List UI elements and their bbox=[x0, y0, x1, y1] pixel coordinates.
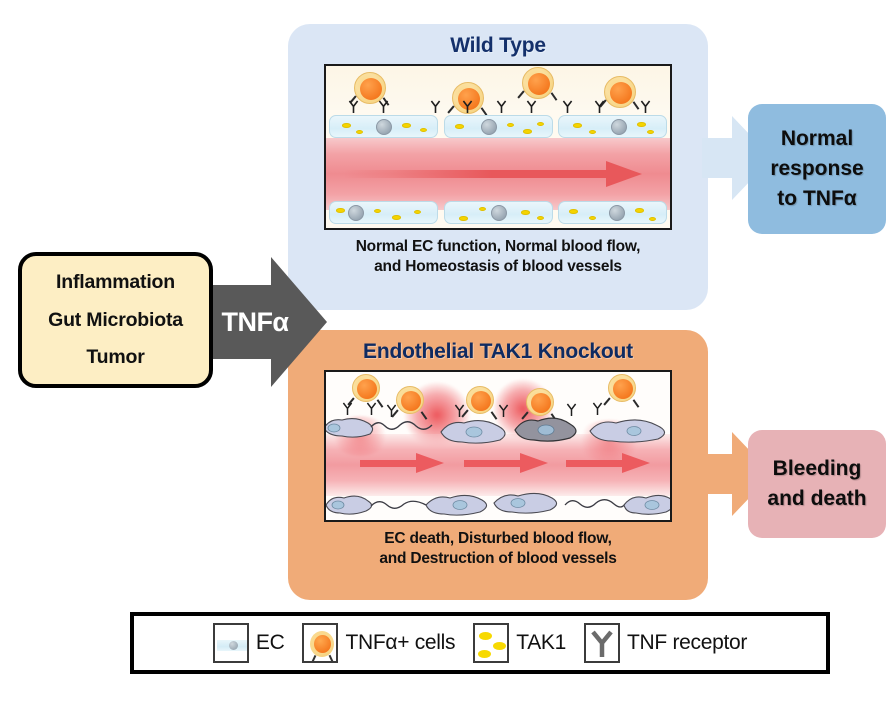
tak1-icon bbox=[637, 122, 646, 127]
tnf-receptor-icon bbox=[526, 100, 537, 114]
tak1-icon bbox=[479, 207, 486, 211]
outcome-line: and death bbox=[767, 484, 866, 514]
tak1-icon bbox=[392, 215, 401, 220]
ec-nucleus bbox=[491, 205, 507, 221]
tnf-receptor-icon bbox=[562, 100, 573, 114]
tak1-icon bbox=[414, 210, 421, 214]
panel-caption-wild-type: Normal EC function, Normal blood flow, a… bbox=[356, 237, 641, 277]
tnf-receptor-icon bbox=[594, 100, 605, 114]
ec-detached-fragment bbox=[370, 416, 434, 436]
ec-icon bbox=[329, 115, 438, 138]
outcome-box-bleeding-and-death: Bleeding and death bbox=[748, 430, 886, 538]
ec-nucleus bbox=[609, 205, 625, 221]
flow-arrow-shaft bbox=[344, 170, 612, 178]
ec-icon bbox=[558, 115, 667, 138]
flow-arrow-shaft bbox=[566, 460, 628, 467]
tnf-receptor-icon bbox=[348, 100, 359, 114]
tak1-icon bbox=[402, 123, 411, 128]
ec-detached-fragment bbox=[564, 494, 626, 514]
flow-arrow-head bbox=[416, 453, 444, 473]
tnfa-cell-core bbox=[360, 78, 382, 100]
blood-flow-arrow-disturbed bbox=[566, 456, 650, 470]
legend-label: TNF receptor bbox=[627, 631, 747, 655]
tak1-icon bbox=[573, 123, 582, 128]
endothelial-row-top bbox=[326, 115, 670, 138]
panel-endothelial-tak1-knockout: Endothelial TAK1 Knockout bbox=[288, 330, 708, 600]
tnf-receptor-icon bbox=[378, 100, 389, 114]
tak1-granule bbox=[493, 642, 506, 650]
tnf-receptor-icon bbox=[584, 623, 620, 663]
tnfa-cell-core bbox=[531, 393, 551, 413]
vessel-diagram-tak1-knockout bbox=[324, 370, 672, 522]
legend-label: TNFα+ cells bbox=[345, 631, 455, 655]
panel-wild-type: Wild Type bbox=[288, 24, 708, 310]
trigger-line-gut-microbiota: Gut Microbiota bbox=[48, 309, 183, 332]
tak1-icon bbox=[507, 123, 514, 127]
tak1-icon bbox=[521, 210, 530, 215]
ec-damaged bbox=[588, 414, 672, 444]
legend-label: TAK1 bbox=[516, 631, 566, 655]
panel-caption-tak1-knockout: EC death, Disturbed blood flow, and Dest… bbox=[379, 529, 616, 569]
ec-damaged bbox=[438, 414, 512, 446]
tnfa-cell-stub bbox=[312, 655, 316, 662]
tnf-receptor-icon bbox=[640, 100, 651, 114]
tak1-icon bbox=[537, 122, 544, 126]
tak1-icon bbox=[356, 130, 363, 134]
tnfa-cell-core bbox=[528, 73, 550, 95]
tnfa-cell-stub bbox=[329, 655, 333, 662]
legend-item-tnfa-cells: TNFα+ cells bbox=[302, 623, 455, 663]
outcome-box-normal-response: Normal response to TNFα bbox=[748, 104, 886, 234]
tak1-icon bbox=[342, 123, 351, 128]
legend: EC TNFα+ cells TAK1 TNF receptor bbox=[130, 612, 830, 674]
caption-line: EC death, Disturbed blood flow, bbox=[379, 529, 616, 549]
tnfa-cell-core bbox=[401, 391, 421, 411]
outcome-line: Normal bbox=[781, 124, 853, 154]
outcome-line: to TNFα bbox=[777, 184, 856, 214]
panel-title-wild-type: Wild Type bbox=[450, 34, 546, 58]
tnfa-cell-icon bbox=[466, 386, 494, 414]
blood-lumen-normal bbox=[326, 138, 670, 210]
flow-arrow-shaft bbox=[464, 460, 526, 467]
inflammation-trigger-box: Inflammation Gut Microbiota Tumor bbox=[18, 252, 213, 388]
tak1-icon bbox=[523, 129, 532, 134]
flow-arrow-head bbox=[622, 453, 650, 473]
tnfa-stimulus-arrow: TNFα bbox=[205, 257, 327, 387]
blood-flow-arrow-disturbed bbox=[464, 456, 548, 470]
ec-nucleus bbox=[376, 119, 392, 135]
tak1-icon bbox=[635, 208, 644, 213]
tnf-receptor-icon bbox=[366, 402, 377, 416]
tnf-receptor-icon bbox=[430, 100, 441, 114]
tak1-icon bbox=[336, 208, 345, 213]
endothelial-row-bottom bbox=[326, 201, 670, 224]
outcome-line: response bbox=[770, 154, 863, 184]
flow-arrow-head bbox=[606, 161, 642, 187]
tnfa-cell-icon bbox=[522, 67, 554, 99]
tak1-icon bbox=[420, 128, 427, 132]
tnfa-cell-icon bbox=[608, 374, 636, 402]
tnfa-cell-core bbox=[610, 82, 632, 104]
ec-damaged bbox=[424, 490, 492, 518]
ec-damaged bbox=[622, 490, 672, 518]
panel-title-tak1-knockout: Endothelial TAK1 Knockout bbox=[363, 340, 633, 364]
ec-icon bbox=[444, 115, 553, 138]
ec-nucleus bbox=[229, 641, 238, 650]
tnf-receptor-icon bbox=[386, 404, 397, 418]
tak1-icon bbox=[473, 623, 509, 663]
legend-item-ec: EC bbox=[213, 623, 285, 663]
trigger-line-inflammation: Inflammation bbox=[56, 271, 175, 294]
tnfa-cell-core bbox=[471, 391, 491, 411]
vessel-diagram-wild-type bbox=[324, 64, 672, 230]
trigger-line-tumor: Tumor bbox=[86, 346, 144, 369]
legend-label: EC bbox=[256, 631, 285, 655]
tnfa-cell-core bbox=[357, 379, 377, 399]
caption-line: Normal EC function, Normal blood flow, bbox=[356, 237, 641, 257]
caption-line: and Homeostasis of blood vessels bbox=[356, 257, 641, 277]
ec-nucleus bbox=[348, 205, 364, 221]
legend-item-tak1: TAK1 bbox=[473, 623, 566, 663]
tak1-icon bbox=[649, 217, 656, 221]
blood-flow-arrow-disturbed bbox=[360, 456, 444, 470]
ec-icon bbox=[558, 201, 667, 224]
tnfa-arrow-label: TNFα bbox=[205, 257, 305, 387]
ec-icon bbox=[444, 201, 553, 224]
tnf-receptor-icon bbox=[592, 402, 603, 416]
ec-nucleus bbox=[611, 119, 627, 135]
tak1-icon bbox=[537, 216, 544, 220]
tnf-receptor-icon bbox=[342, 402, 353, 416]
tnfa-cell-icon bbox=[302, 623, 338, 663]
tak1-icon bbox=[589, 216, 596, 220]
tnf-receptor-icon bbox=[454, 404, 465, 418]
tak1-granule bbox=[479, 632, 492, 640]
tak1-icon bbox=[374, 209, 381, 213]
tnfa-cell-core bbox=[613, 379, 633, 399]
blood-flow-arrow-normal bbox=[344, 166, 644, 182]
tak1-icon bbox=[589, 130, 596, 134]
tak1-icon bbox=[647, 130, 654, 134]
ec-icon bbox=[213, 623, 249, 663]
tnf-receptor-icon bbox=[496, 100, 507, 114]
tak1-granule bbox=[478, 650, 491, 658]
ec-damaged bbox=[492, 488, 562, 516]
tnfa-cell-icon bbox=[352, 374, 380, 402]
tnf-receptor-icon bbox=[566, 403, 577, 417]
tnf-receptor-icon bbox=[498, 404, 509, 418]
tnf-receptor-icon bbox=[462, 100, 473, 114]
flow-arrow-head bbox=[520, 453, 548, 473]
tnfa-cell-icon bbox=[396, 386, 424, 414]
ec-nucleus bbox=[481, 119, 497, 135]
ec-damaged bbox=[324, 490, 376, 518]
tak1-icon bbox=[455, 124, 464, 129]
ec-icon bbox=[329, 201, 438, 224]
caption-line: and Destruction of blood vessels bbox=[379, 549, 616, 569]
tnfa-cell-icon bbox=[604, 76, 636, 108]
tak1-icon bbox=[569, 209, 578, 214]
outcome-line: Bleeding bbox=[773, 454, 862, 484]
ec-detached-fragment bbox=[370, 496, 428, 514]
legend-item-tnf-receptor: TNF receptor bbox=[584, 623, 747, 663]
flow-arrow-shaft bbox=[360, 460, 422, 467]
tak1-icon bbox=[459, 216, 468, 221]
